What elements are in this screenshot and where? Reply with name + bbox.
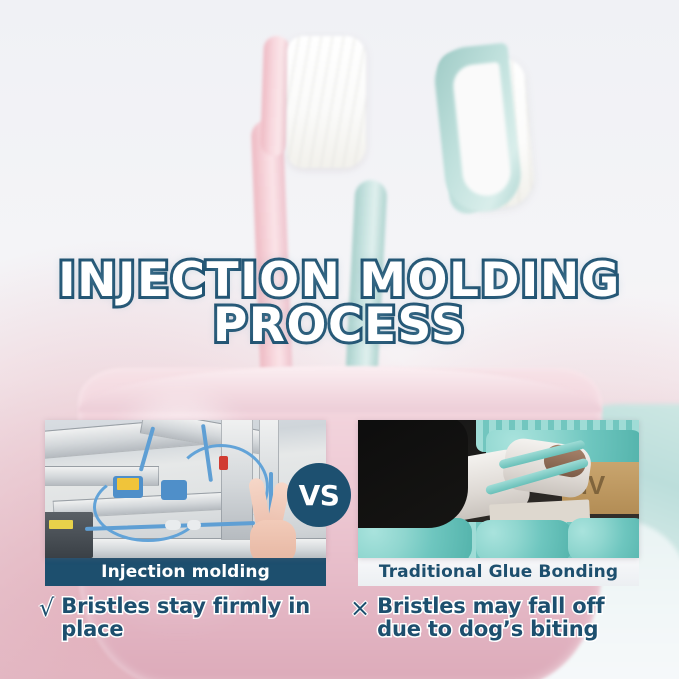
vs-label: VS bbox=[299, 479, 340, 512]
title-line-2: PROCESS bbox=[0, 303, 679, 348]
check-icon: √ bbox=[39, 595, 54, 621]
pink-toothbrush-neck bbox=[260, 36, 290, 157]
teal-brush-cluster-bottom-mid bbox=[476, 520, 572, 558]
title-line-1: INJECTION MOLDING bbox=[0, 258, 679, 303]
label-injection-molding: Injection molding bbox=[45, 558, 326, 586]
machine-warning-label bbox=[49, 520, 73, 529]
pink-toothbrush-bristles bbox=[287, 36, 366, 168]
comparison-panel-glue-bonding: dV Traditional Glue Bonding × Bristles m… bbox=[358, 420, 639, 640]
teal-brush-cluster-bottom-right bbox=[568, 518, 639, 558]
caption-injection-molding: √ Bristles stay firmly in place bbox=[39, 595, 339, 640]
machine-tube-fitting-2 bbox=[187, 520, 201, 530]
comparison-panel-injection-molding: Injection molding √ Bristles stay firmly… bbox=[45, 420, 326, 640]
injection-molding-photo bbox=[45, 420, 326, 558]
glue-bonding-photo: dV bbox=[358, 420, 639, 558]
machine-control-box bbox=[45, 512, 93, 558]
machine-tube-fitting-1 bbox=[165, 520, 181, 530]
caption-glue-bonding: × Bristles may fall off due to dog’s bit… bbox=[350, 595, 650, 640]
vs-badge: VS bbox=[287, 463, 351, 527]
product-infographic: INJECTION MOLDING PROCESS bbox=[0, 0, 679, 679]
cross-icon: × bbox=[350, 595, 370, 621]
worker-torso-shadow bbox=[358, 420, 468, 528]
caption-text-right: Bristles may fall off due to dog’s bitin… bbox=[377, 595, 650, 640]
caption-text-left: Bristles stay firmly in place bbox=[61, 595, 339, 640]
page-title: INJECTION MOLDING PROCESS bbox=[0, 258, 679, 348]
label-glue-bonding: Traditional Glue Bonding bbox=[358, 558, 639, 586]
hand-palm bbox=[250, 520, 296, 558]
comparison-section: Injection molding √ Bristles stay firmly… bbox=[0, 420, 679, 679]
